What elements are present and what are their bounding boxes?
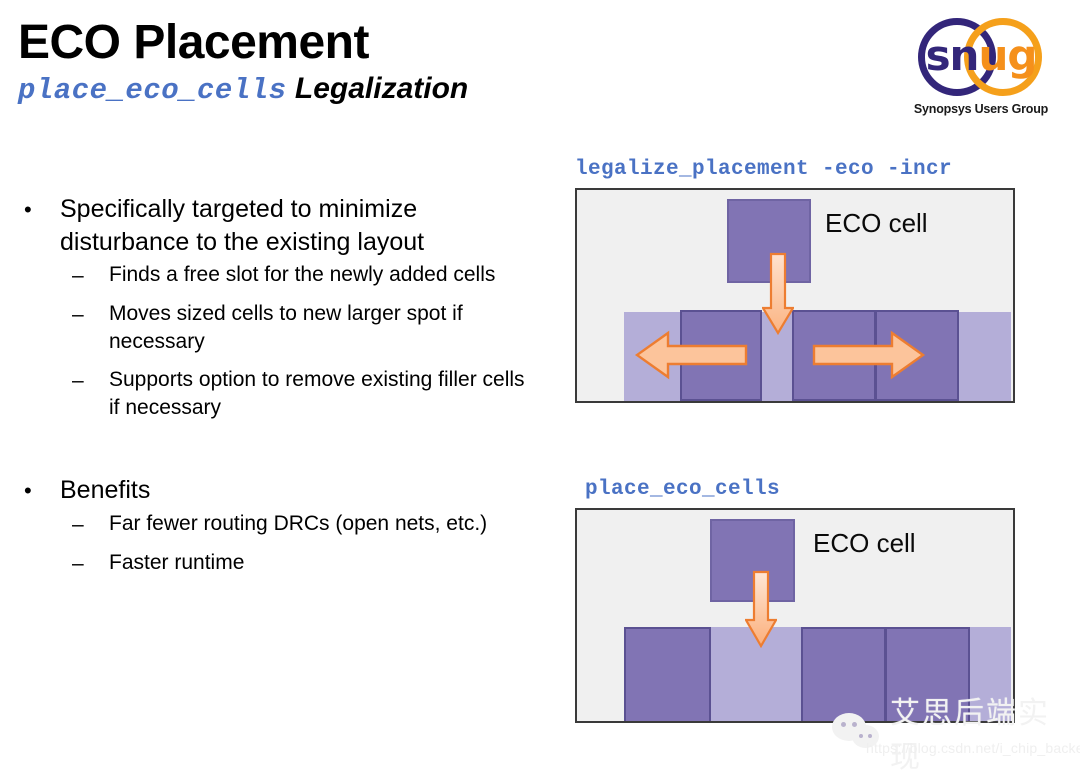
sub-bullet-text: Supports option to remove existing fille… xyxy=(109,366,529,422)
snug-logo-mark: snug xyxy=(902,14,1060,100)
std-cell-left xyxy=(624,627,711,723)
snug-wordmark-sn: sn xyxy=(926,31,979,80)
sub-bullet-text: Far fewer routing DRCs (open nets, etc.) xyxy=(109,510,529,538)
diagram-place-eco-cells: place_eco_cells ECO cell xyxy=(575,478,1015,723)
sub-bullet-marker: – xyxy=(12,261,109,290)
wechat-dot xyxy=(868,734,872,738)
diagram-heading-place-eco-cells: place_eco_cells xyxy=(575,478,1015,501)
subtitle-rest-text: Legalization xyxy=(295,72,468,105)
sub-bullet-item: – Supports option to remove existing fil… xyxy=(12,366,552,422)
diagram-heading-legalize: legalize_placement -eco -incr xyxy=(575,158,1015,181)
bullet-group-2: • Benefits – Far fewer routing DRCs (ope… xyxy=(12,474,552,578)
sub-bullet-item: – Moves sized cells to new larger spot i… xyxy=(12,300,552,356)
bullet-text: Specifically targeted to minimize distur… xyxy=(60,193,552,259)
arrow-right-icon xyxy=(812,330,926,380)
eco-cell-label-bottom: ECO cell xyxy=(813,528,916,559)
bullet-marker: • xyxy=(12,193,60,227)
watermark-url: https://blog.csdn.net/i_chip_backend xyxy=(866,740,1080,756)
snug-wordmark-ug: ug xyxy=(978,31,1036,80)
arrow-down-icon-top xyxy=(762,252,794,336)
bullet-item: • Benefits xyxy=(12,474,552,508)
title-block: ECO Placement place_eco_cells Legalizati… xyxy=(18,18,658,108)
sub-bullet-text: Moves sized cells to new larger spot if … xyxy=(109,300,529,356)
page-title: ECO Placement xyxy=(18,18,658,68)
bullet-group-1: • Specifically targeted to minimize dist… xyxy=(12,193,552,422)
arrow-left-icon xyxy=(634,330,748,380)
snug-logo: snug Synopsys Users Group xyxy=(902,14,1060,126)
sub-bullet-marker: – xyxy=(12,300,109,329)
sub-bullet-marker: – xyxy=(12,366,109,395)
eco-cell-label-top: ECO cell xyxy=(825,208,928,239)
sub-bullet-item: – Faster runtime xyxy=(12,549,552,578)
sub-bullet-text: Finds a free slot for the newly added ce… xyxy=(109,261,529,289)
bullet-item: • Specifically targeted to minimize dist… xyxy=(12,193,552,259)
page-subtitle: place_eco_cells Legalization xyxy=(18,72,658,107)
sub-bullet-item: – Far fewer routing DRCs (open nets, etc… xyxy=(12,510,552,539)
bullet-text: Benefits xyxy=(60,474,552,507)
sub-bullet-marker: – xyxy=(12,510,109,539)
wechat-dot xyxy=(859,734,863,738)
sub-bullet-text: Faster runtime xyxy=(109,549,529,577)
sub-bullet-marker: – xyxy=(12,549,109,578)
snug-tagline: Synopsys Users Group xyxy=(902,102,1060,116)
diagram-panel-bottom: ECO cell xyxy=(575,508,1015,723)
bullet-marker: • xyxy=(12,474,60,508)
bullet-content: • Specifically targeted to minimize dist… xyxy=(12,193,552,588)
std-cell-right-2 xyxy=(885,627,970,723)
std-cell-right-1 xyxy=(801,627,886,723)
snug-wordmark: snug xyxy=(902,34,1060,78)
sub-bullet-item: – Finds a free slot for the newly added … xyxy=(12,261,552,290)
diagram-panel-top: ECO cell xyxy=(575,188,1015,403)
arrow-down-icon-bottom xyxy=(745,570,777,648)
diagram-legalize-placement: legalize_placement -eco -incr ECO cell xyxy=(575,158,1015,403)
subtitle-command-text: place_eco_cells xyxy=(18,74,287,107)
